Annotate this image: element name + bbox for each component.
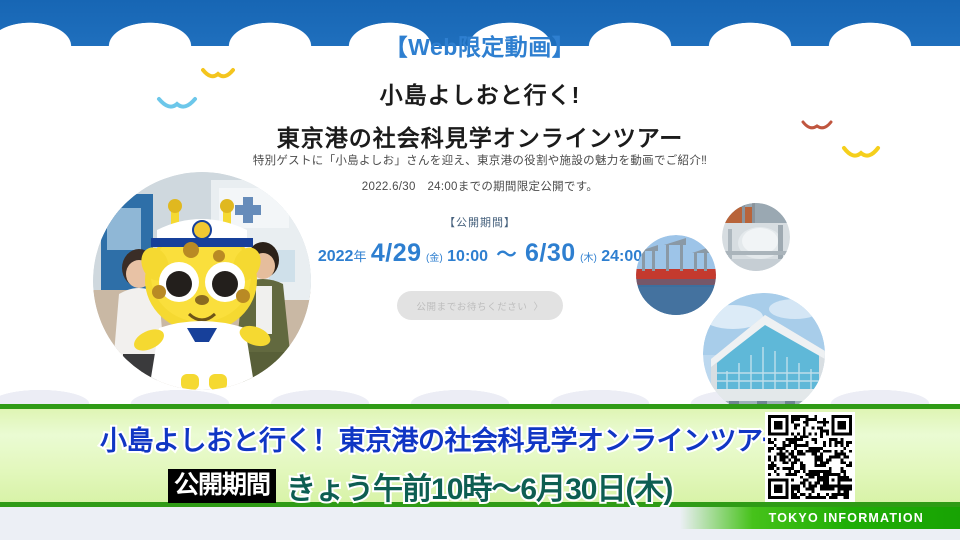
program-label: TOKYO INFORMATION <box>769 511 924 525</box>
qr-code[interactable] <box>765 412 855 502</box>
period-separator: 〜 <box>493 244 521 266</box>
chevron-right-icon: 〉 <box>534 299 544 313</box>
page-title-line1: 小島よしおと行く! <box>0 76 960 110</box>
period-year-suffix: 年 <box>353 249 366 264</box>
wait-button-label: 公開までお待ちください <box>416 299 527 313</box>
period-year: 2022 <box>318 248 354 265</box>
banner-period-text: きょう午前10時〜6月30日(木) <box>286 464 672 508</box>
building-photo <box>703 293 825 404</box>
banner-period-row: 公開期間 きょう午前10時〜6月30日(木) <box>168 464 672 508</box>
broadcast-screen: 【Web限定動画】 小島よしおと行く! 東京港の社会科見学オンラインツアー 特別… <box>0 0 960 540</box>
kicker-label: 【Web限定動画】 <box>0 28 960 62</box>
program-id-bar: TOKYO INFORMATION <box>680 507 960 529</box>
period-start-time: 10:00 <box>447 248 488 265</box>
period-start-date: 4/29 <box>371 239 422 267</box>
bottom-strip: TOKYO INFORMATION <box>0 507 960 540</box>
page-title-line2: 東京港の社会科見学オンラインツアー <box>0 119 960 153</box>
lede-line-1: 特別ゲストに「小島よしお」さんを迎え、東京港の役割や施設の魅力を動画でご紹介‼ <box>0 152 960 168</box>
period-end-dow: (木) <box>580 253 597 264</box>
facility-photo <box>722 203 790 271</box>
wait-until-release-button[interactable]: 公開までお待ちください 〉 <box>397 291 563 320</box>
headline-block: 【Web限定動画】 小島よしおと行く! 東京港の社会科見学オンラインツアー <box>0 28 960 162</box>
banner-headline: 小島よしおと行く！東京港の社会科見学オンラインツアー <box>100 419 760 458</box>
guest-photo: Special guest <box>93 172 311 390</box>
web-page-capture: 【Web限定動画】 小島よしおと行く! 東京港の社会科見学オンラインツアー 特別… <box>0 0 960 404</box>
period-end-date: 6/30 <box>525 239 576 267</box>
banner-period-tag: 公開期間 <box>168 469 276 502</box>
period-start-dow: (金) <box>426 253 443 264</box>
